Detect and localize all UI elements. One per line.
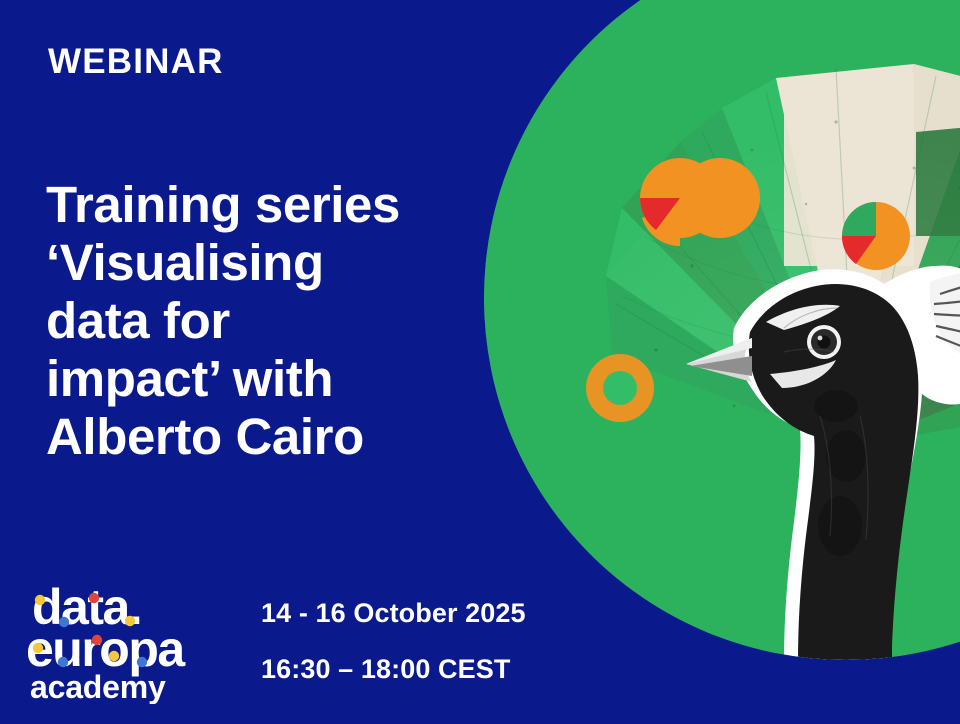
- logo-word-academy: academy: [30, 669, 166, 704]
- headline-line: ‘Visualising: [46, 234, 476, 292]
- peacock-collage-illustration: [484, 0, 960, 660]
- event-time: 16:30 – 18:00 CEST: [261, 656, 526, 683]
- headline-line: Training series: [46, 176, 476, 234]
- webinar-promo-banner: WEBINAR Training series ‘Visualising dat…: [0, 0, 960, 724]
- headline-line: impact’ with: [46, 350, 476, 408]
- artwork-green-circle: [484, 0, 960, 660]
- headline-line: data for: [46, 292, 476, 350]
- svg-text:academy: academy: [30, 669, 166, 704]
- eyebrow-label: WEBINAR: [48, 44, 224, 79]
- headline-line: Alberto Cairo: [46, 408, 476, 466]
- data-europa-academy-logo: data. europa academy: [18, 578, 218, 704]
- page-title: Training series ‘Visualising data for im…: [46, 176, 476, 466]
- event-date: 14 - 16 October 2025: [261, 600, 526, 627]
- event-schedule: 14 - 16 October 2025 16:30 – 18:00 CEST: [261, 600, 526, 683]
- logo-mark: data. europa academy: [18, 578, 218, 704]
